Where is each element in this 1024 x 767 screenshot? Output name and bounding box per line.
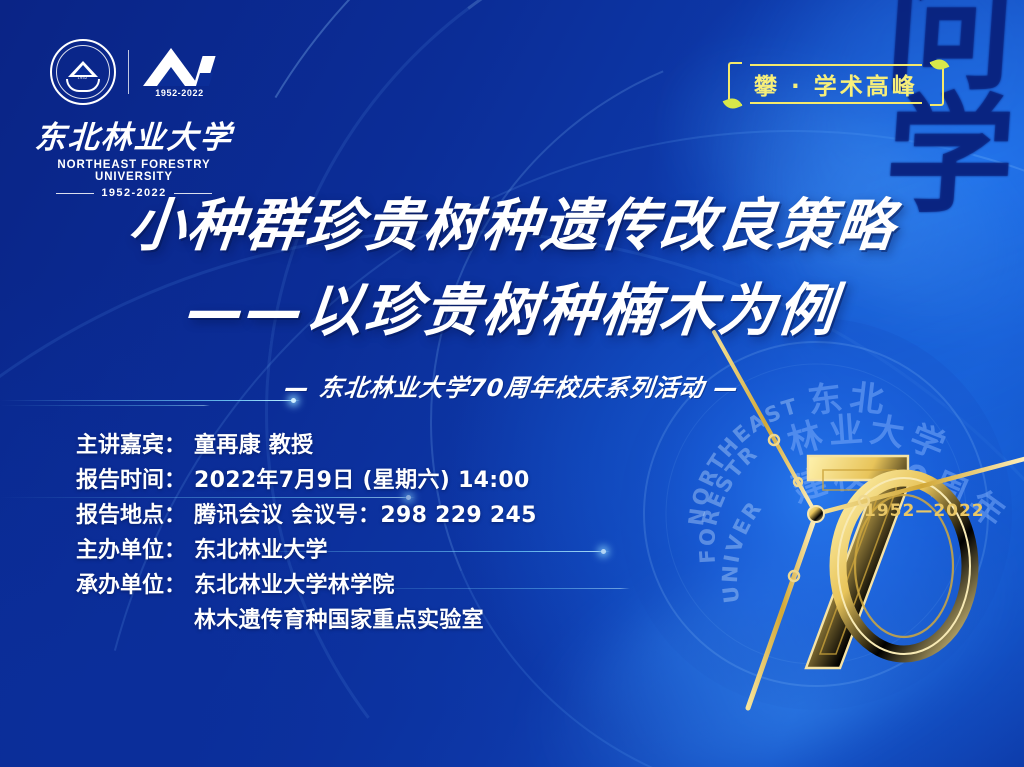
logo-name-en: NORTHEAST FORESTRY UNIVERSITY [34,159,234,183]
university-seal-icon: 1952 [50,39,116,105]
logo-emblem-row: 1952 1952-2022 [34,36,234,108]
detail-label: 主办单位： [76,533,194,568]
anniversary-mark-years: 1952-2022 [141,88,219,98]
detail-value: 童再康 教授 [194,428,313,463]
detail-row: 主办单位： 东北林业大学 [76,533,537,568]
detail-label: 报告时间： [76,463,194,498]
decorative-glow [504,462,1024,767]
detail-value: 东北林业大学 [194,533,328,568]
clock-curved-text-2: 林业大学 [783,410,955,470]
detail-row: 主讲嘉宾： 童再康 教授 [76,428,537,463]
logo-divider [128,50,129,94]
poster-title-line1: 小种群珍贵树种遗传改良策略 [0,186,1024,267]
anniversary-mountain-icon: 1952-2022 [141,46,219,98]
detail-value: 东北林业大学林学院 [194,568,395,603]
clock-curved-text-3: 建校70周年 [787,454,1016,539]
academic-peak-badge: 攀 · 学术高峰 [728,62,944,106]
title-block: 小种群珍贵树种遗传改良策略 ——以珍贵树种楠木为例 — 东北林业大学70周年校庆… [0,186,1024,403]
light-streak [0,405,210,406]
university-logo-lockup: 1952 1952-2022 东北林业大学 NORTHEAST FORESTRY… [34,36,234,199]
detail-value: 林木遗传育种国家重点实验室 [194,603,484,638]
detail-row: 报告时间： 2022年7月9日 (星期六) 14:00 [76,463,537,498]
detail-row: 报告地点： 腾讯会议 会议号：298 229 245 [76,498,537,533]
anniversary-70-monogram: 1952—2022 [806,456,985,668]
detail-label: 主讲嘉宾： [76,428,194,463]
clock-arc-text-northeast: NORTHEAST [684,394,801,528]
seal-year-label: 1952 [52,75,114,80]
poster-title-line2: ——以珍贵树种楠木为例 [0,271,1024,352]
detail-label: 报告地点： [76,498,194,533]
detail-row-continuation: 承办单位： 林木遗传育种国家重点实验室 [76,603,537,638]
detail-value: 2022年7月9日 (星期六) 14:00 [194,463,530,498]
logo-name-cn: 东北林业大学 [33,112,235,157]
poster-subtitle: — 东北林业大学70周年校庆系列活动 — [0,368,1024,403]
detail-label: 承办单位： [76,568,194,603]
badge-rule-top [750,64,922,66]
detail-value: 腾讯会议 会议号：298 229 245 [194,498,537,533]
anniversary-years-text: 1952—2022 [864,501,985,521]
badge-label: 攀 · 学术高峰 [744,67,928,101]
badge-rule-bottom [750,102,922,104]
poster-canvas: 问 学 [0,0,1024,767]
detail-row: 承办单位： 东北林业大学林学院 [76,568,537,603]
event-details-block: 主讲嘉宾： 童再康 教授 报告时间： 2022年7月9日 (星期六) 14:00… [76,428,537,638]
